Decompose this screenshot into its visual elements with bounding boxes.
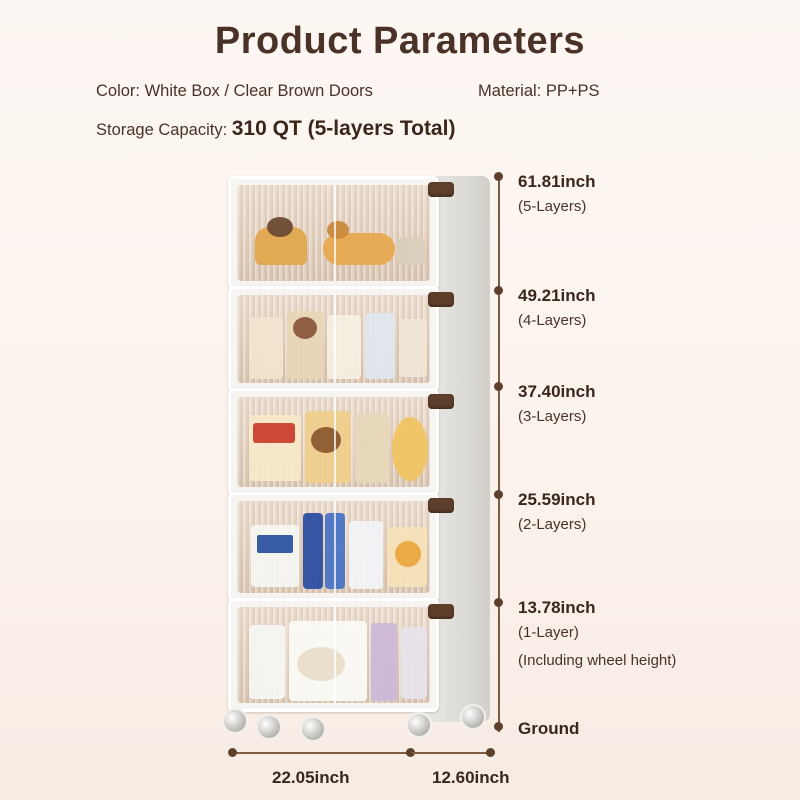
dimension-sub-1: (1-Layer) (518, 624, 579, 641)
footprint-depth-label: 12.60inch (432, 768, 510, 788)
drawer-layer-1 (228, 598, 439, 712)
drawer-door-1 (237, 607, 430, 703)
dimension-value-1: 13.78inch (518, 598, 596, 618)
spec-material: Material: PP+PS (478, 82, 600, 101)
dimension-value-3: 37.40inch (518, 382, 596, 402)
drawer-door-2 (237, 501, 430, 593)
dimension-sub-2: (2-Layers) (518, 516, 586, 533)
drawer-layer-5 (228, 176, 439, 290)
drawer-door-3 (237, 397, 430, 487)
product-image (228, 168, 490, 728)
dimension-sub-3: (3-Layers) (518, 408, 586, 425)
dimension-sub-1b: (Including wheel height) (518, 652, 676, 669)
wheel-center (300, 716, 326, 742)
footprint-width-label: 22.05inch (272, 768, 350, 788)
drawer-handle-2[interactable] (428, 498, 454, 513)
wheel-front-left (222, 708, 248, 734)
spec-capacity: Storage Capacity: 310 QT (5-layers Total… (96, 117, 455, 141)
dimension-dot-ground (494, 722, 503, 731)
page-title: Product Parameters (0, 20, 800, 63)
footprint-width-line (232, 752, 412, 754)
dimension-sub-5: (5-Layers) (518, 198, 586, 215)
footprint-depth-line (412, 752, 490, 754)
spec-capacity-label: Storage Capacity: (96, 121, 227, 139)
dimension-value-5: 61.81inch (518, 172, 596, 192)
spec-color: Color: White Box / Clear Brown Doors (96, 82, 373, 101)
dimension-dot-5 (494, 172, 503, 181)
ground-label: Ground (518, 719, 579, 739)
dimension-dot-2 (494, 490, 503, 499)
wheel-front-right (406, 712, 432, 738)
dimension-dot-4 (494, 286, 503, 295)
drawer-handle-1[interactable] (428, 604, 454, 619)
drawer-handle-5[interactable] (428, 182, 454, 197)
drawer-door-5 (237, 185, 430, 281)
dimension-axis-vertical (498, 176, 500, 732)
drawer-layer-2 (228, 492, 439, 602)
drawer-door-4 (237, 295, 430, 383)
dimension-dot-3 (494, 382, 503, 391)
spec-capacity-value: 310 QT (5-layers Total) (232, 117, 456, 140)
dimension-dot-1 (494, 598, 503, 607)
dimension-value-4: 49.21inch (518, 286, 596, 306)
wheel-rear-right (460, 704, 486, 730)
wheel-front-left-inner (256, 714, 282, 740)
drawer-handle-4[interactable] (428, 292, 454, 307)
footprint-dot-left (228, 748, 237, 757)
dimension-sub-4: (4-Layers) (518, 312, 586, 329)
drawer-layer-4 (228, 286, 439, 392)
drawer-handle-3[interactable] (428, 394, 454, 409)
dimension-value-2: 25.59inch (518, 490, 596, 510)
drawer-layer-3 (228, 388, 439, 496)
footprint-dot-right (486, 748, 495, 757)
